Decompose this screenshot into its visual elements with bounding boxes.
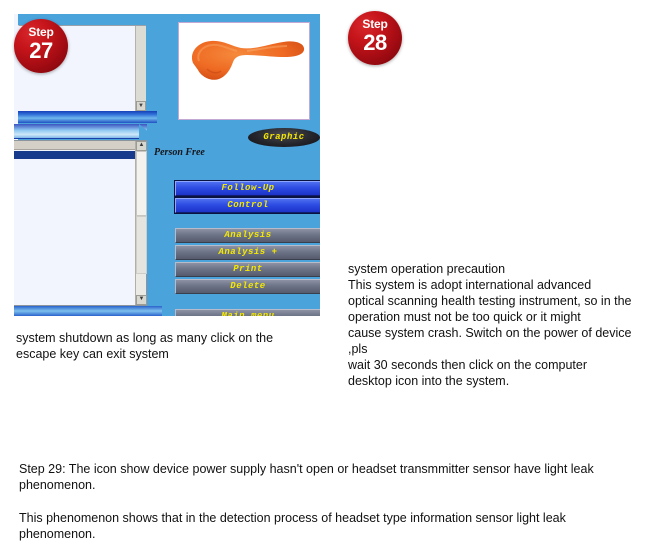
- report-panel-scrollbar[interactable]: ▼: [135, 26, 146, 111]
- scrollbar-track[interactable]: [136, 216, 147, 274]
- analysis-plus-button[interactable]: Analysis +: [175, 245, 320, 260]
- main-menu-button[interactable]: Main menu: [175, 309, 320, 316]
- analysis-button[interactable]: Analysis: [175, 228, 320, 243]
- bevel-notch: [139, 124, 157, 139]
- step-29-text: Step 29: The icon show device power supp…: [19, 461, 631, 493]
- patient-list-panel[interactable]: ▲ ▼: [14, 140, 147, 306]
- list-column-header: [14, 141, 136, 150]
- scrollbar-thumb[interactable]: [136, 151, 147, 216]
- graphic-display-panel: [178, 22, 310, 120]
- step-badge-number: 27: [14, 39, 68, 62]
- graphic-button[interactable]: Graphic: [248, 128, 320, 147]
- panel-bottom-bevel: [14, 306, 162, 316]
- system-precaution-text: system operation precaution This system …: [348, 261, 648, 389]
- scroll-up-icon[interactable]: ▲: [136, 141, 147, 151]
- delete-button[interactable]: Delete: [175, 279, 320, 294]
- print-button[interactable]: Print: [175, 262, 320, 277]
- step-badge-27: Step 27: [14, 19, 68, 73]
- bevel-band-lower: [14, 124, 147, 139]
- patient-list-scrollbar[interactable]: ▲ ▼: [135, 141, 146, 305]
- person-free-label: Person Free: [154, 147, 205, 158]
- list-item[interactable]: [14, 151, 136, 159]
- bevel-band-upper: [18, 111, 157, 123]
- step-badge-number: 28: [348, 31, 402, 54]
- step-badge-28: Step 28: [348, 11, 402, 65]
- follow-up-button[interactable]: Follow-Up: [175, 181, 320, 196]
- shutdown-caption: system shutdown as long as many click on…: [16, 330, 332, 362]
- scroll-down-icon[interactable]: ▼: [136, 295, 147, 305]
- phenomenon-text: This phenomenon shows that in the detect…: [19, 510, 631, 542]
- scroll-down-icon[interactable]: ▼: [136, 101, 146, 111]
- control-button[interactable]: Control: [175, 198, 320, 213]
- organ-image: [187, 29, 305, 81]
